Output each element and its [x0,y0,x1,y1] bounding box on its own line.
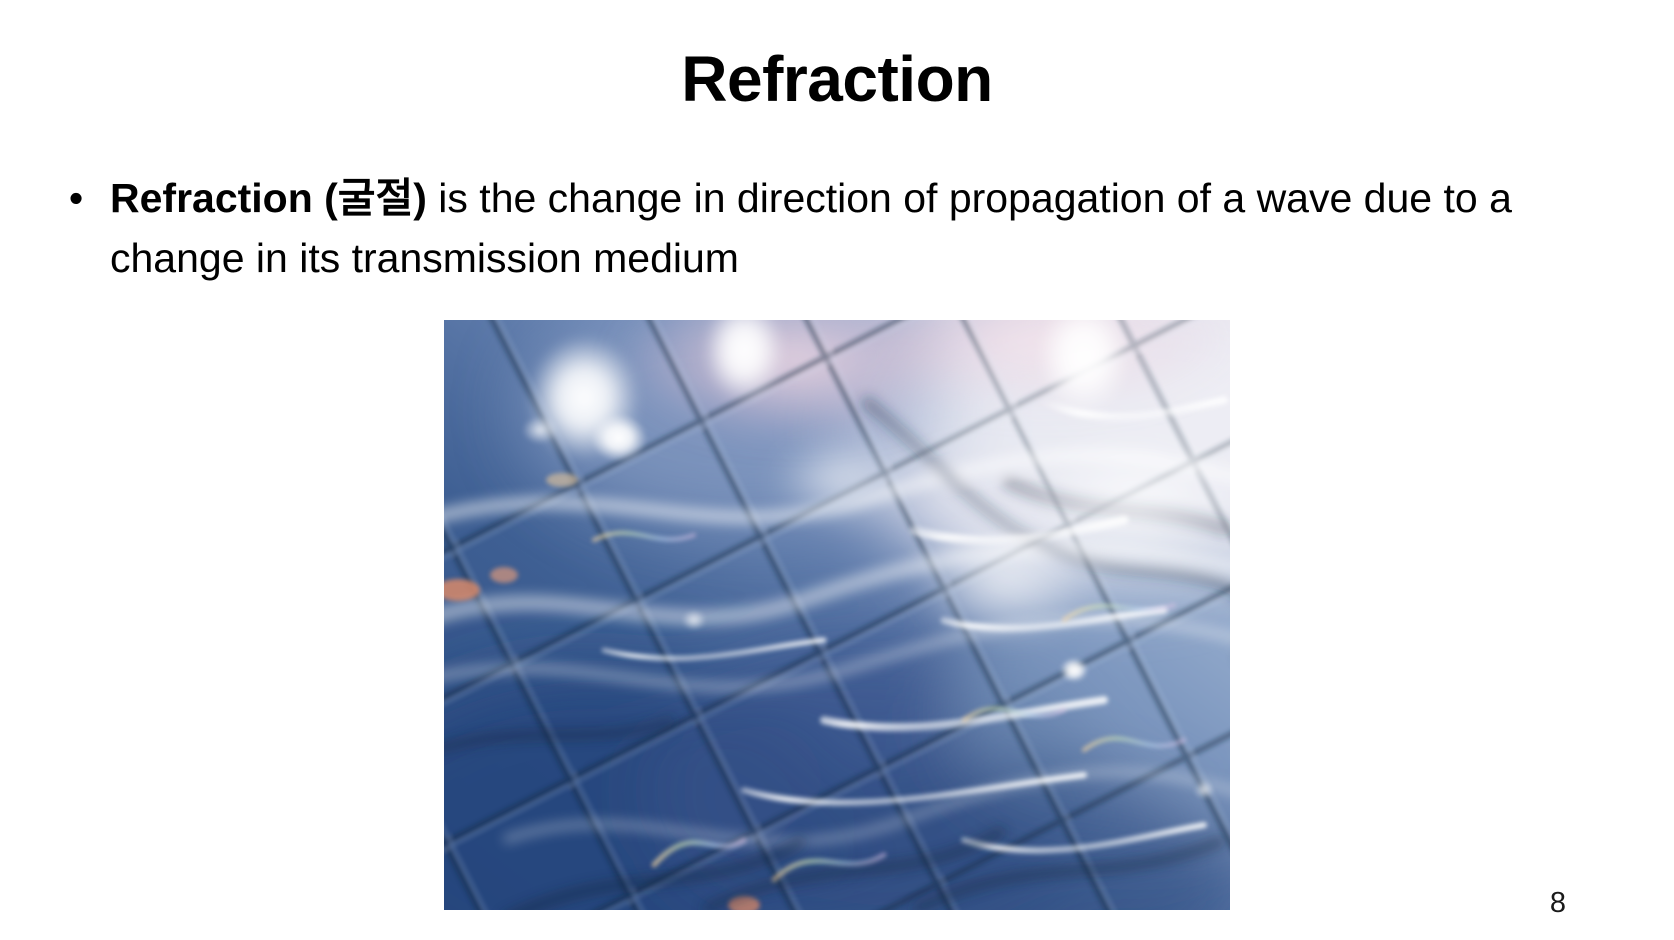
body-placeholder: • Refraction (굴절) is the change in direc… [50,168,1640,288]
list-item: • Refraction (굴절) is the change in direc… [50,168,1640,288]
bullet-text: Refraction (굴절) is the change in directi… [110,175,1512,281]
bullet-marker-icon: • [64,168,88,228]
refraction-pool-water-photo [444,320,1230,910]
slide-canvas: Refraction • Refraction (굴절) is the chan… [0,0,1674,940]
page-number: 8 [1550,889,1566,918]
bullet-bold-term: Refraction (굴절) [110,175,427,221]
slide-image [444,320,1230,910]
page-title: Refraction [0,46,1674,113]
